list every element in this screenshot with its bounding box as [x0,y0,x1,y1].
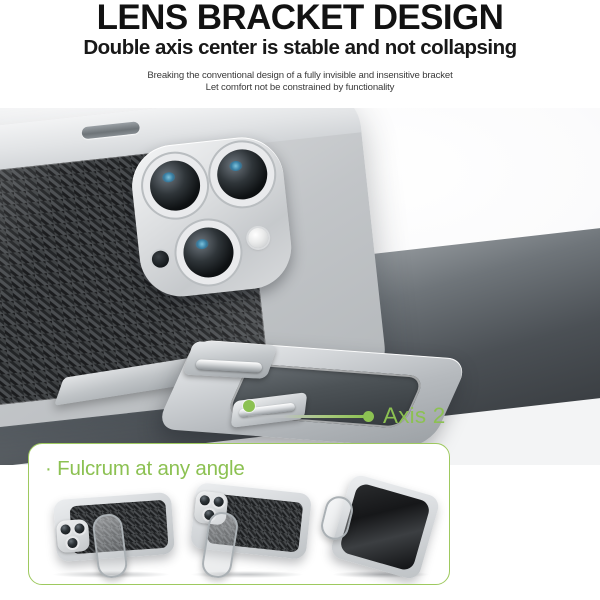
thumb-lens-2 [213,496,224,507]
leader-dot-axis-2 [363,411,374,422]
thumb-lens-2 [74,523,85,534]
thumbnail-phone-stand-low-angle [43,490,178,582]
leader-line-axis-2 [248,415,366,418]
header: LENS BRACKET DESIGN Double axis center i… [0,0,600,108]
camera-lens-1 [148,158,203,213]
thumbnail-phone-screen-tilted [321,482,445,582]
thumb-lens-3 [67,538,78,549]
axis-2-marker-dot [243,400,255,412]
fulcrum-panel-title: · Fulcrum at any angle [45,458,245,480]
hero-product-image: Axis 2 Axis 1 [0,105,600,465]
page-title: LENS BRACKET DESIGN [0,1,600,35]
flash-icon [247,227,269,249]
thumbnail-phone-stand-steep-angle [179,486,319,582]
thumb-lens-1 [60,524,71,535]
page-subtitle: Double axis center is stable and not col… [0,36,600,60]
camera-lens-2 [215,147,270,202]
description-line-1: Breaking the conventional design of a fu… [0,70,600,82]
callout-axis-2: Axis 2 [248,405,445,427]
camera-lens-3 [181,225,236,280]
callout-label-axis-2: Axis 2 [383,405,445,427]
fulcrum-panel: · Fulcrum at any angle [28,443,450,585]
thumb-camera-module [56,519,90,553]
thumb-lens-1 [199,495,210,506]
description-line-2: Let comfort not be constrained by functi… [0,82,600,94]
lidar-sensor-icon [151,250,170,269]
camera-module [128,133,296,301]
